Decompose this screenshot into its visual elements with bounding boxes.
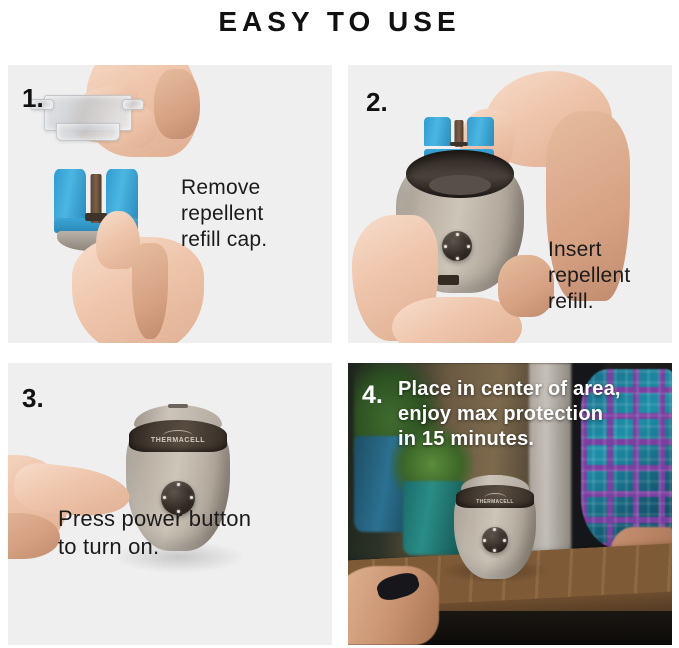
led-indicator-bottom xyxy=(493,549,496,552)
step-panel-3: THERMACELL 3. xyxy=(8,363,332,645)
step-caption-3: Press power button to turn on. xyxy=(58,505,251,561)
page-title: EASY TO USE xyxy=(0,2,679,42)
refill-post-cap xyxy=(450,142,468,147)
led-indicator-right xyxy=(467,245,470,248)
step-number-4: 4. xyxy=(362,381,383,410)
refill-clear-cap-skirt xyxy=(56,123,120,141)
refill-prong-right xyxy=(467,117,494,146)
device-charge-port xyxy=(438,275,458,285)
step-panel-1: 1. Remove repellent refill cap. xyxy=(8,65,332,343)
brand-logo: THERMACELL xyxy=(476,493,513,505)
thermacell-device: THERMACELL xyxy=(454,475,536,579)
brand-logo-text: THERMACELL xyxy=(151,437,205,444)
led-indicator-top xyxy=(493,528,496,531)
device-vent-slot xyxy=(168,404,189,408)
step-panel-2: 2. Insert repellent refill. xyxy=(348,65,672,343)
brand-logo-arc xyxy=(484,493,506,498)
led-indicator-bottom xyxy=(456,257,459,260)
brand-logo: THERMACELL xyxy=(151,430,205,444)
hand-right-thumb xyxy=(498,255,554,317)
refill-prong-left xyxy=(424,117,451,146)
step-number-1: 1. xyxy=(22,83,44,114)
power-button[interactable] xyxy=(482,527,508,553)
led-indicator-left xyxy=(163,496,166,499)
step-panel-4: THERMACELL 4. Place in center of area, e… xyxy=(348,363,672,645)
step-caption-2: Insert repellent refill. xyxy=(548,237,630,315)
brand-logo-text: THERMACELL xyxy=(476,499,513,505)
step-number-2: 2. xyxy=(366,87,388,118)
step-caption-4: Place in center of area, enjoy max prote… xyxy=(398,377,621,452)
led-indicator-left xyxy=(444,245,447,248)
hand-upper-fingers xyxy=(154,69,200,139)
hand-lower-finger xyxy=(132,243,168,339)
led-indicator-top xyxy=(177,483,180,486)
refill-prong-left xyxy=(54,169,86,220)
led-indicator-left xyxy=(483,539,486,542)
step-caption-1: Remove repellent refill cap. xyxy=(181,175,267,253)
step-number-3: 3. xyxy=(22,383,44,414)
device-heater-plate xyxy=(429,175,490,195)
led-indicator-top xyxy=(456,233,459,236)
led-indicator-right xyxy=(190,496,193,499)
brand-logo-arc xyxy=(163,430,193,436)
refill-clear-cap-tab-right xyxy=(122,99,144,110)
led-indicator-right xyxy=(503,539,506,542)
